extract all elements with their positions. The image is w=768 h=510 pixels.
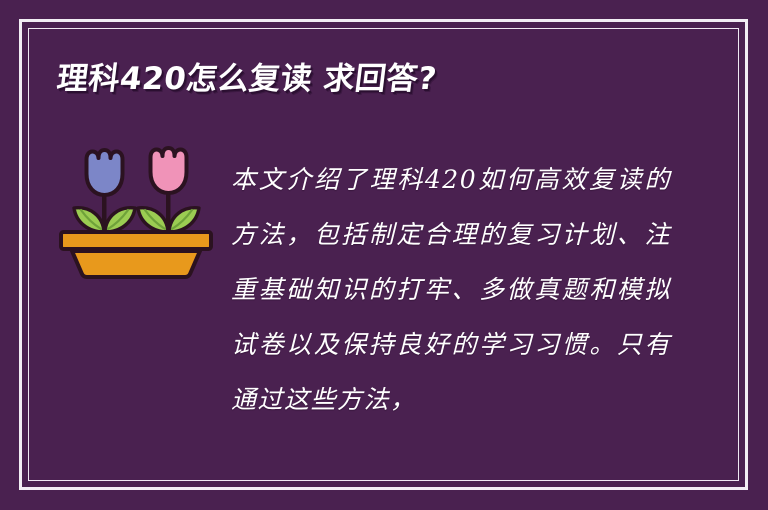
article-cover-card: 理科420怎么复读 求回答?	[0, 0, 768, 510]
tulip-pink-icon	[151, 148, 187, 193]
tulip-blue-icon	[87, 150, 123, 195]
planter-box-icon	[61, 232, 211, 277]
page-title: 理科420怎么复读 求回答?	[55, 62, 699, 98]
flower-planter-illustration	[58, 140, 214, 280]
article-summary-paragraph: 本文介绍了理科420如何高效复读的方法，包括制定合理的复习计划、注重基础知识的打…	[231, 152, 671, 427]
